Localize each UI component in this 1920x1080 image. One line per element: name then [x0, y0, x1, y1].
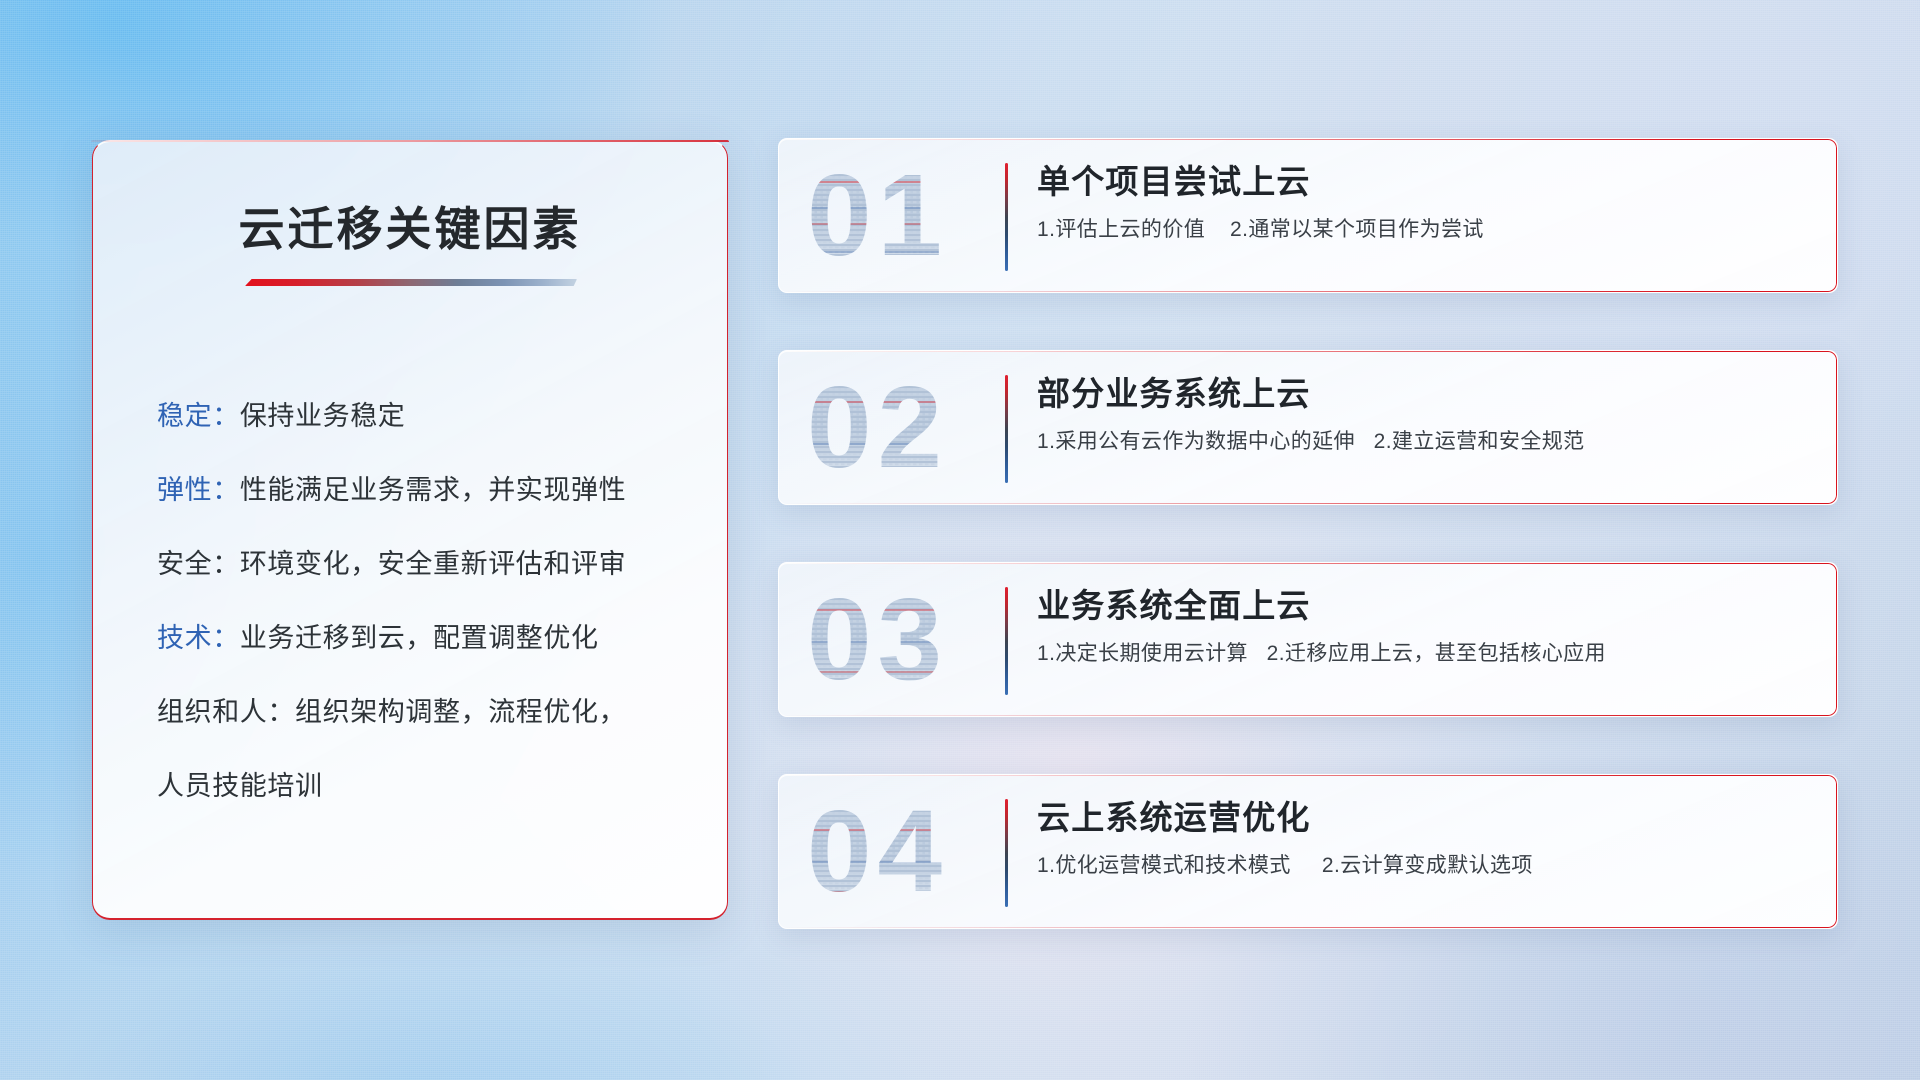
- list-item-text: 组织架构调整，流程优化，: [295, 697, 626, 727]
- step-title: 云上系统运营优化: [1037, 797, 1809, 838]
- title-underline-gradient: [245, 279, 577, 286]
- step-card-01[interactable]: 01 单个项目尝试上云 1.评估上云的价值 2.通常以: [778, 138, 1838, 293]
- step-card-02[interactable]: 02 部分业务系统上云 1.采用公有云作为数据中心的延伸 2.建立运营和安全规范: [778, 350, 1838, 505]
- step-title: 业务系统全面上云: [1037, 585, 1809, 626]
- step-content: 云上系统运营优化 1.优化运营模式和技术模式 2.云计算变成默认选项: [1037, 797, 1809, 881]
- step-divider-bar: [1005, 375, 1008, 483]
- list-item: 组织和人：组织架构调整，流程优化，: [157, 675, 689, 749]
- step-description: 1.采用公有云作为数据中心的延伸 2.建立运营和安全规范: [1037, 428, 1809, 456]
- list-item-key: 弹性：: [157, 475, 240, 505]
- step-content: 单个项目尝试上云 1.评估上云的价值 2.通常以某个项目作为尝试: [1037, 161, 1809, 245]
- step-content: 业务系统全面上云 1.决定长期使用云计算 2.迁移应用上云，甚至包括核心应用: [1037, 585, 1809, 669]
- list-item-key: 安全：: [157, 549, 240, 579]
- step-divider-bar: [1005, 587, 1008, 695]
- slide-canvas: 云迁移关键因素 稳定：保持业务稳定 弹性：性能满足业务需求，并实现弹性 安全：环…: [0, 0, 1920, 1080]
- step-title: 部分业务系统上云: [1037, 373, 1809, 414]
- step-content: 部分业务系统上云 1.采用公有云作为数据中心的延伸 2.建立运营和安全规范: [1037, 373, 1809, 457]
- list-item-text: 环境变化，安全重新评估和评审: [240, 549, 626, 579]
- step-number-02-icon: 02: [805, 371, 1005, 489]
- list-item-text: 人员技能培训: [157, 771, 323, 801]
- list-item-text: 业务迁移到云，配置调整优化: [240, 623, 599, 653]
- step-title: 单个项目尝试上云: [1037, 161, 1809, 202]
- step-number-04-icon: 04: [805, 795, 1005, 913]
- step-divider-bar: [1005, 163, 1008, 271]
- list-item: 弹性：性能满足业务需求，并实现弹性: [157, 453, 689, 527]
- list-item-text: 保持业务稳定: [240, 401, 406, 431]
- list-item-text: 性能满足业务需求，并实现弹性: [240, 475, 626, 505]
- step-description: 1.评估上云的价值 2.通常以某个项目作为尝试: [1037, 216, 1809, 244]
- step-card-03[interactable]: 03 业务系统全面上云 1.决定长期使用云计算 2.迁移应用上云，甚至包括核心应…: [778, 562, 1838, 717]
- key-factors-card: 云迁移关键因素 稳定：保持业务稳定 弹性：性能满足业务需求，并实现弹性 安全：环…: [92, 140, 728, 920]
- list-item-key: 稳定：: [157, 401, 240, 431]
- step-divider-bar: [1005, 799, 1008, 907]
- step-number-01-icon: 01: [805, 159, 1005, 277]
- migration-steps-list: 01 单个项目尝试上云 1.评估上云的价值 2.通常以: [778, 138, 1838, 986]
- step-description: 1.决定长期使用云计算 2.迁移应用上云，甚至包括核心应用: [1037, 640, 1809, 668]
- step-number-03-icon: 03: [805, 583, 1005, 701]
- key-factors-list: 稳定：保持业务稳定 弹性：性能满足业务需求，并实现弹性 安全：环境变化，安全重新…: [157, 379, 689, 823]
- page-title: 云迁移关键因素: [93, 193, 727, 259]
- list-item-continuation: 人员技能培训: [157, 749, 689, 823]
- step-card-04[interactable]: 04 云上系统运营优化 1.优化运营模式和技术模式 2.云计算变成默认选项: [778, 774, 1838, 929]
- list-item-key: 技术：: [157, 623, 240, 653]
- list-item: 稳定：保持业务稳定: [157, 379, 689, 453]
- list-item: 技术：业务迁移到云，配置调整优化: [157, 601, 689, 675]
- list-item: 安全：环境变化，安全重新评估和评审: [157, 527, 689, 601]
- step-description: 1.优化运营模式和技术模式 2.云计算变成默认选项: [1037, 852, 1809, 880]
- list-item-key: 组织和人：: [157, 697, 295, 727]
- card-top-accent: [91, 140, 728, 142]
